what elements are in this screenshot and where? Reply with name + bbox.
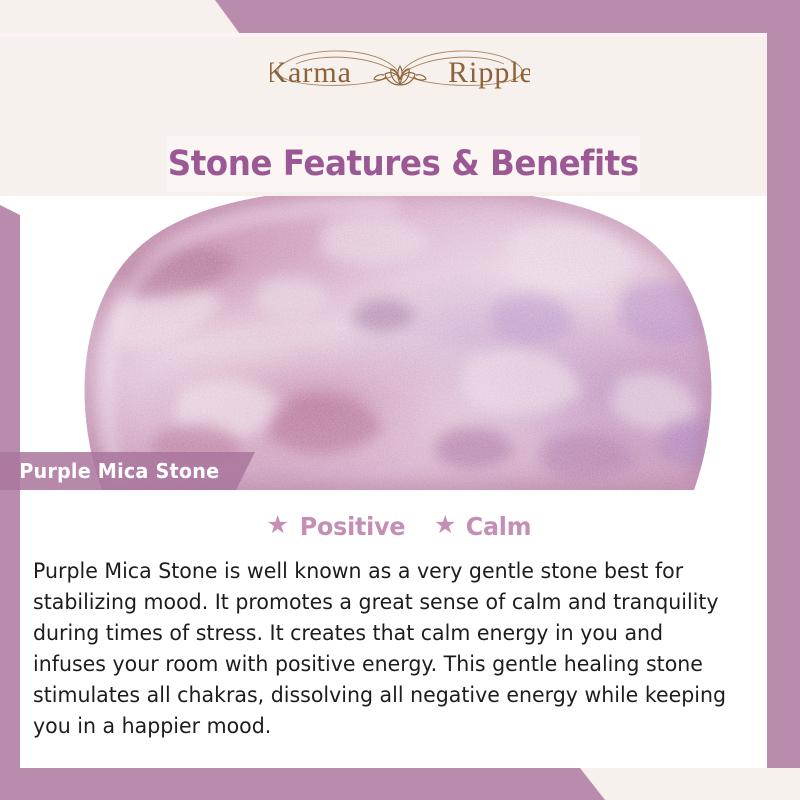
keyword-calm: ★ Calm (434, 512, 533, 541)
brand-logo: Karma Ripple (0, 40, 800, 104)
lotus-flower-icon (374, 66, 426, 85)
keyword-row: ★ Positive ★ Calm (0, 512, 800, 541)
page-title: Stone Features & Benefits (168, 144, 639, 184)
stone-name-banner: Purple Mica Stone (0, 452, 255, 490)
left-edge-accent-band (0, 205, 20, 800)
brand-name-left: Karma (270, 56, 352, 89)
stone-description: Purple Mica Stone is well known as a ver… (33, 556, 740, 742)
keyword-positive: ★ Positive (266, 512, 408, 541)
bottom-right-cream-panel (575, 768, 800, 800)
stone-photo-svg (62, 196, 734, 490)
star-icon: ★ (266, 513, 288, 538)
stone-name-label: Purple Mica Stone (0, 459, 219, 483)
keyword-label-calm: Calm (466, 512, 532, 541)
top-hairline-divider (0, 33, 770, 37)
right-edge-accent-band (767, 0, 800, 800)
title-plate: Stone Features & Benefits (167, 136, 640, 192)
keyword-label-positive: Positive (300, 512, 406, 541)
stone-photo (62, 196, 734, 490)
poster-canvas: Karma Ripple Stone Features & Benefits (0, 0, 800, 800)
star-icon: ★ (434, 513, 456, 538)
brand-logo-svg: Karma Ripple (270, 40, 530, 104)
brand-name-right: Ripple (448, 56, 530, 89)
